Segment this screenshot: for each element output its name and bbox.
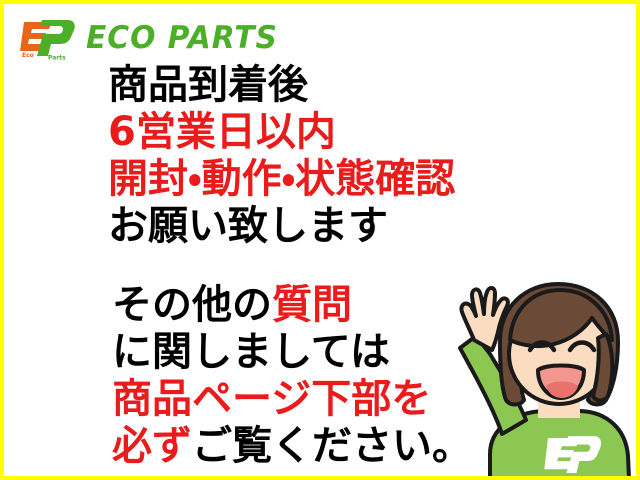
svg-text:Parts: Parts — [48, 55, 66, 61]
notice-line-5-prefix: その他の — [112, 282, 272, 328]
brand-name-text: ECO PARTS — [86, 23, 278, 54]
ep-logo-icon: Eco Parts — [18, 16, 78, 60]
notice-line-5-highlight: 質問 — [272, 282, 352, 328]
notice-line-3: 開封・動作・状態確認 — [108, 156, 578, 203]
eco-parts-notice-banner: Eco Parts ECO PARTS 商品到着後 6営業日以内 開封・動作・状… — [0, 0, 640, 480]
notice-line-4: お願い致します — [108, 203, 578, 250]
notice-line-1: 商品到着後 — [108, 62, 578, 109]
notice-line-8-highlight: 必ず — [112, 423, 192, 469]
waving-girl-illustration — [430, 278, 640, 478]
svg-text:Eco: Eco — [22, 52, 34, 59]
brand-header: Eco Parts ECO PARTS — [18, 14, 286, 62]
notice-line-2: 6営業日以内 — [108, 109, 578, 156]
